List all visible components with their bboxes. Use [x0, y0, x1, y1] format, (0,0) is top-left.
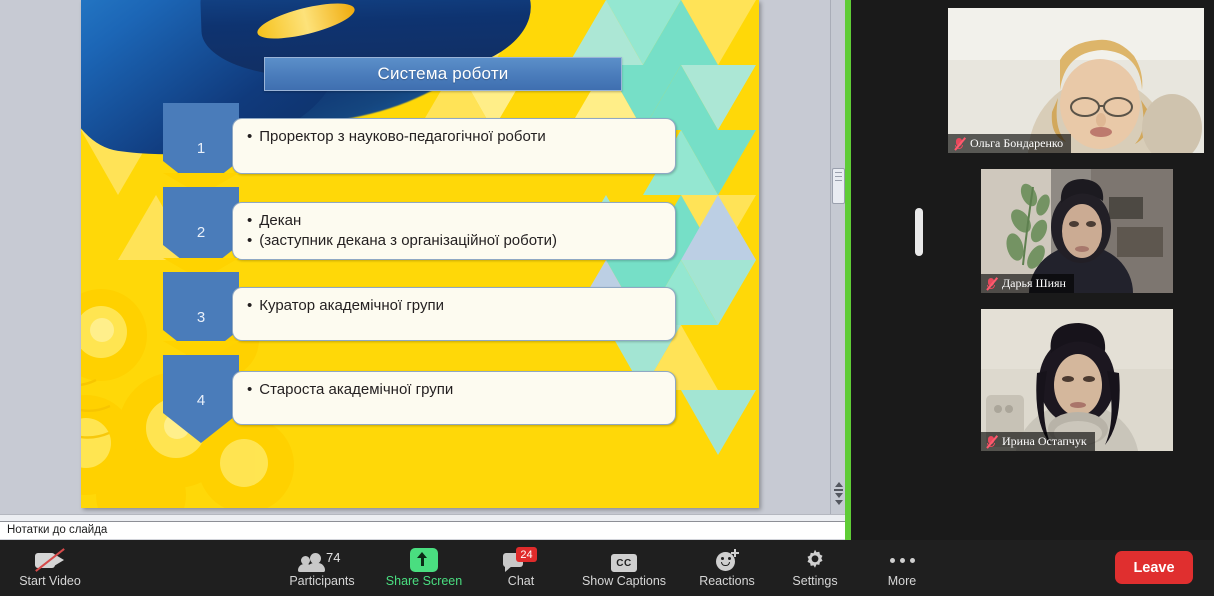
slide-nav-buttons[interactable] [833, 480, 844, 507]
participant-video-feed [981, 309, 1173, 451]
video-still [981, 309, 1173, 451]
slide-step-chevron: 2 [163, 187, 239, 245]
slide-step-chevron: 1 [163, 103, 239, 161]
slide-scrollbar-thumb[interactable] [832, 168, 845, 204]
scroll-divider [834, 489, 843, 491]
shared-screen-region[interactable]: Система роботи 1 Проректор з науково-пед… [0, 0, 851, 540]
participant-name-bar: Ирина Остапчук [981, 432, 1095, 451]
slide-step-chevron: 3 [163, 272, 239, 330]
cc-icon: CC [611, 554, 637, 572]
participant-tile[interactable]: Ирина Остапчук [981, 309, 1173, 451]
leave-label: Leave [1133, 560, 1174, 576]
ellipsis-icon [890, 548, 915, 572]
step-line: Куратор академічної групи [247, 296, 663, 316]
more-label: More [888, 575, 916, 588]
step-line: Декан [247, 211, 663, 231]
slide-notes-placeholder: Нотатки до слайда [7, 524, 107, 536]
start-video-label: Start Video [19, 575, 81, 588]
chat-icon: 24 [502, 548, 540, 572]
participant-name-bar: Ольга Бондаренко [948, 134, 1071, 153]
reactions-icon [714, 548, 740, 572]
powerpoint-canvas[interactable]: Система роботи 1 Проректор з науково-пед… [0, 0, 845, 521]
next-slide-icon[interactable] [835, 493, 843, 498]
active-speaker-indicator [915, 208, 923, 256]
participant-name: Дарья Шиян [1002, 276, 1066, 291]
presentation-slide: Система роботи 1 Проректор з науково-пед… [81, 0, 759, 508]
share-screen-button[interactable]: Share Screen [376, 540, 472, 596]
gear-icon [803, 548, 827, 572]
participant-tile[interactable]: Ольга Бондаренко [948, 8, 1204, 153]
slide-step-callout: Проректор з науково-педагогічної роботи [232, 118, 676, 174]
slide-scrollbar[interactable] [830, 0, 845, 521]
slide-step-callout: Куратор академічної групи [232, 287, 676, 341]
show-captions-label: Show Captions [582, 575, 666, 588]
slide-notes-area[interactable]: Нотатки до слайда [0, 521, 845, 540]
start-video-button[interactable]: Start Video [8, 540, 92, 596]
step-number: 1 [197, 140, 205, 157]
step-line: (заступник декана з організаційної робот… [247, 231, 663, 251]
participant-name: Ирина Остапчук [1002, 434, 1087, 449]
video-still [948, 8, 1204, 153]
participant-name-bar: Дарья Шиян [981, 274, 1074, 293]
slide-step-callout: Староста академічної групи [232, 371, 676, 425]
reactions-button[interactable]: Reactions [686, 540, 768, 596]
step-number: 2 [197, 224, 205, 241]
leave-button[interactable]: Leave [1115, 551, 1193, 584]
step-line: Проректор з науково-педагогічної роботи [247, 127, 663, 147]
notes-divider [0, 514, 845, 521]
share-screen-icon [410, 548, 438, 572]
step-number: 4 [197, 392, 205, 409]
meeting-toolbar: Start Video 74 Participants Share Screen… [0, 540, 1214, 596]
participant-video-feed [948, 8, 1204, 153]
participants-icon: 74 [299, 550, 345, 572]
muted-microphone-icon [985, 435, 998, 448]
slide-step-chevron: 4 [163, 355, 239, 413]
more-button[interactable]: More [869, 540, 935, 596]
muted-microphone-icon [953, 137, 966, 150]
settings-button[interactable]: Settings [777, 540, 853, 596]
participant-name: Ольга Бондаренко [970, 136, 1063, 151]
share-screen-label: Share Screen [386, 575, 462, 588]
participants-button[interactable]: 74 Participants [279, 540, 365, 596]
zoom-meeting-window: Система роботи 1 Проректор з науково-пед… [0, 0, 1214, 596]
next-slide-icon-2[interactable] [835, 500, 843, 505]
participants-label: Participants [289, 575, 354, 588]
settings-label: Settings [792, 575, 837, 588]
video-off-icon [33, 548, 67, 572]
chat-button[interactable]: 24 Chat [492, 540, 550, 596]
step-number: 3 [197, 309, 205, 326]
participants-count: 74 [326, 550, 340, 565]
slide-step-callout: Декан (заступник декана з організаційної… [232, 202, 676, 260]
chat-unread-badge: 24 [516, 547, 537, 562]
previous-slide-icon[interactable] [835, 482, 843, 487]
participant-tile[interactable]: Дарья Шиян [981, 169, 1173, 293]
muted-microphone-icon [985, 277, 998, 290]
chat-label: Chat [508, 575, 534, 588]
step-line: Староста академічної групи [247, 380, 663, 400]
show-captions-button[interactable]: CC Show Captions [570, 540, 678, 596]
participant-video-strip: Ольга Бондаренко [851, 0, 1214, 540]
slide-title: Система роботи [264, 57, 622, 91]
reactions-label: Reactions [699, 575, 755, 588]
